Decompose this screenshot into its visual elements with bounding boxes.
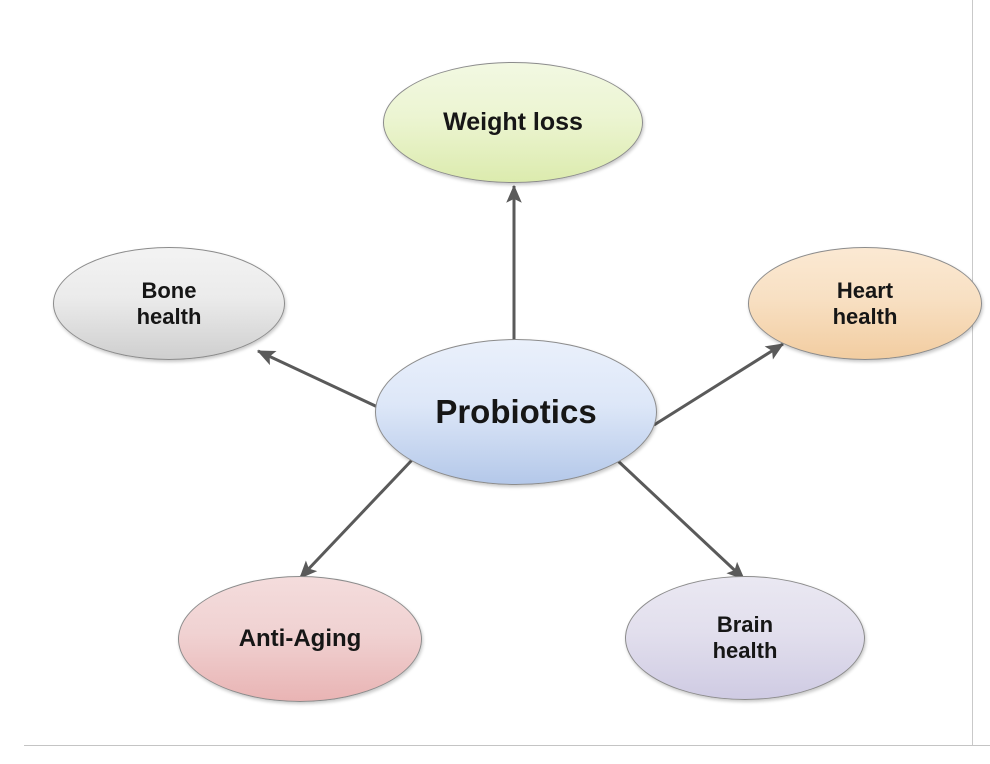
diagram-canvas: Weight loss Bone health Heart health Pro… (0, 0, 990, 764)
node-heart-health[interactable]: Heart health (748, 247, 982, 360)
node-bone-health[interactable]: Bone health (53, 247, 285, 360)
edge-probiotics-brain-health (618, 461, 744, 579)
page-right-rule (972, 0, 973, 745)
node-heart-health-label: Heart health (823, 278, 908, 330)
node-weight-loss-label: Weight loss (433, 108, 593, 138)
node-anti-aging-label: Anti-Aging (229, 625, 372, 653)
page-bottom-rule (24, 745, 990, 746)
edge-probiotics-anti-aging (300, 460, 412, 578)
node-probiotics[interactable]: Probiotics (375, 339, 657, 485)
node-anti-aging[interactable]: Anti-Aging (178, 576, 422, 702)
node-weight-loss[interactable]: Weight loss (383, 62, 643, 183)
node-probiotics-label: Probiotics (425, 393, 606, 432)
node-bone-health-label: Bone health (127, 278, 212, 330)
node-brain-health[interactable]: Brain health (625, 576, 865, 700)
node-brain-health-label: Brain health (703, 612, 788, 664)
edge-probiotics-heart-health (654, 344, 783, 425)
